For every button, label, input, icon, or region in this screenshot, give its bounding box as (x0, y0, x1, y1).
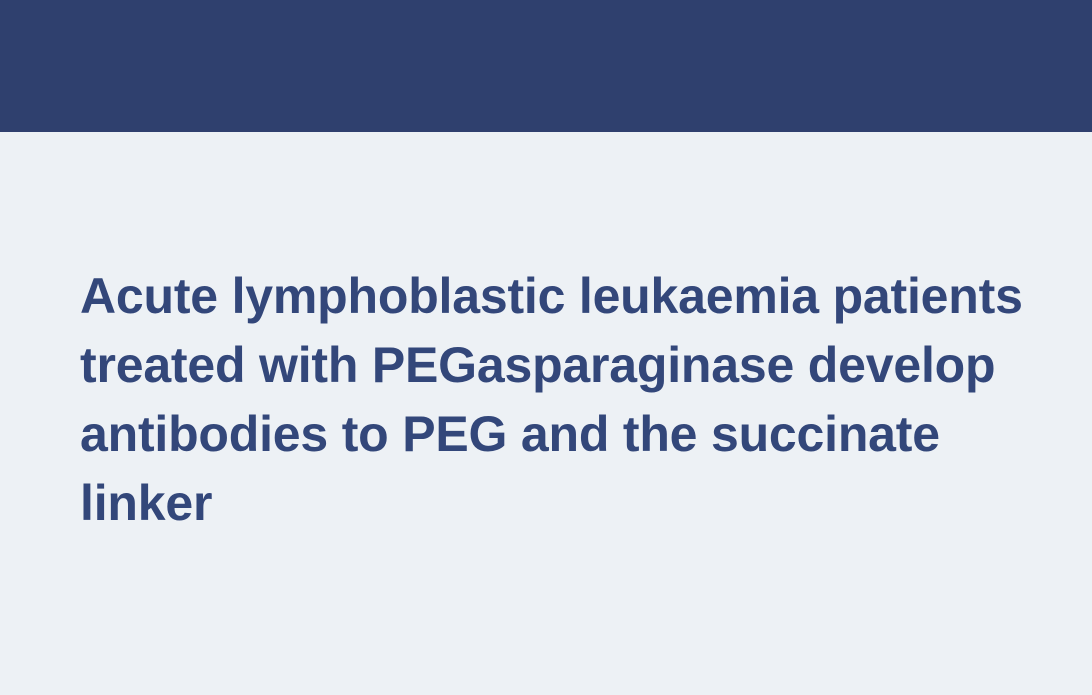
page-root: Acute lymphoblastic leukaemia patients t… (0, 0, 1092, 695)
main-content: Acute lymphoblastic leukaemia patients t… (0, 132, 1092, 695)
title-block: Acute lymphoblastic leukaemia patients t… (80, 262, 1045, 538)
page-title: Acute lymphoblastic leukaemia patients t… (80, 262, 1045, 538)
top-banner (0, 0, 1092, 132)
